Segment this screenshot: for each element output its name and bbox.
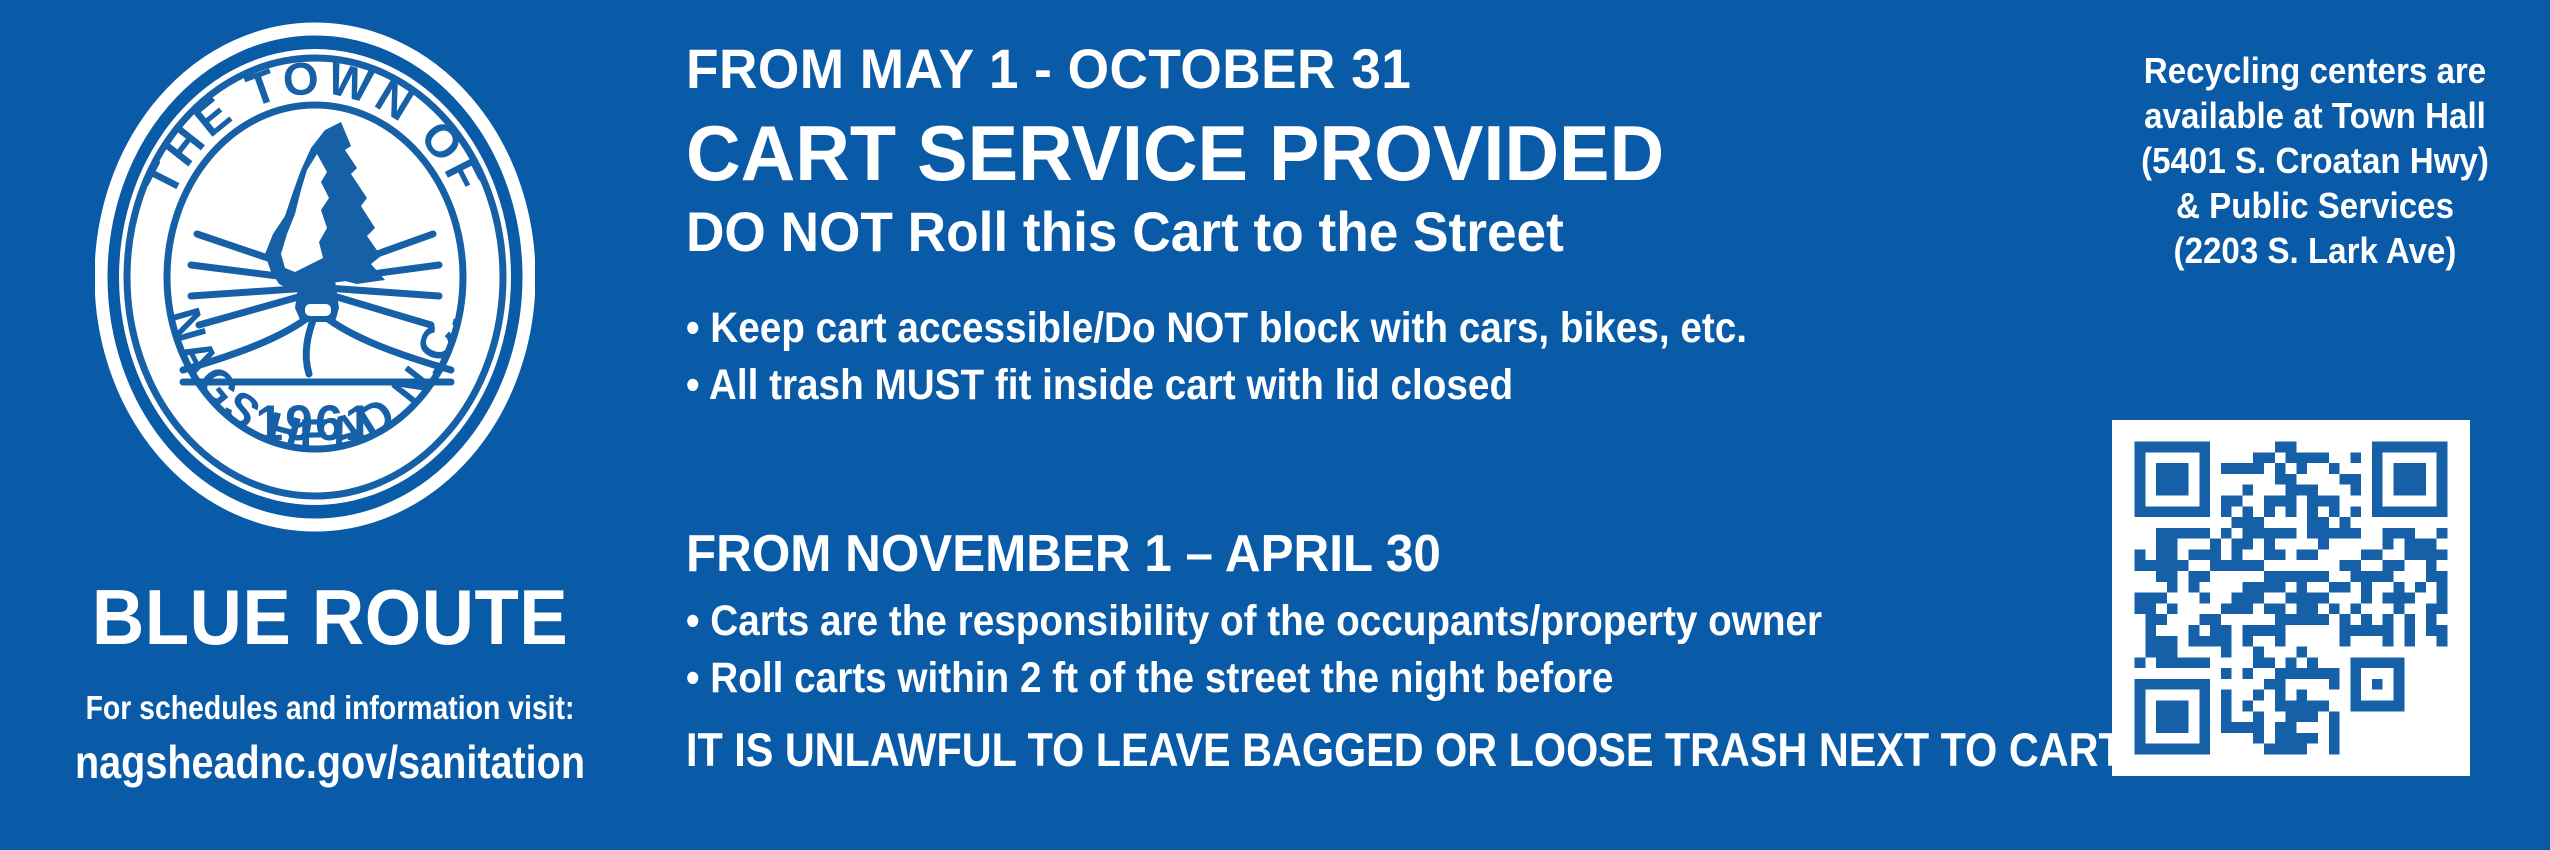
town-seal-graphic: THE TOWN OF NAGS HEAD N.C.: [95, 22, 535, 532]
winter-bullet-list: • Carts are the responsibility of the oc…: [686, 593, 1948, 707]
qr-code[interactable]: [2112, 420, 2470, 776]
visit-label: For schedules and information visit:: [46, 688, 614, 728]
recycling-line: available at Town Hall: [2099, 93, 2531, 138]
svg-text:1961: 1961: [255, 395, 374, 451]
recycling-line: & Public Services: [2099, 183, 2531, 228]
qr-code-icon: [2112, 420, 2470, 776]
recycling-info: Recycling centers are available at Town …: [2099, 48, 2531, 273]
recycling-line: (2203 S. Lark Ave): [2099, 228, 2531, 273]
recycling-line: (5401 S. Croatan Hwy): [2099, 138, 2531, 183]
website-url[interactable]: nagsheadnc.gov/sanitation: [46, 735, 614, 789]
sanitation-cart-label: THE TOWN OF NAGS HEAD N.C.: [0, 0, 2550, 850]
sub-headline: DO NOT Roll this Cart to the Street: [686, 200, 1564, 264]
right-column: Recycling centers are available at Town …: [2080, 0, 2550, 850]
town-seal: THE TOWN OF NAGS HEAD N.C.: [95, 22, 535, 532]
summer-season-heading: FROM MAY 1 - OCTOBER 31: [686, 38, 1411, 100]
list-item: • Carts are the responsibility of the oc…: [686, 593, 1822, 650]
unlawful-warning: IT IS UNLAWFUL TO LEAVE BAGGED OR LOOSE …: [686, 722, 2165, 778]
list-item: • Keep cart accessible/Do NOT block with…: [686, 300, 1747, 357]
main-headline: CART SERVICE PROVIDED: [686, 110, 1664, 196]
list-item: • Roll carts within 2 ft of the street t…: [686, 650, 1822, 707]
summer-bullet-list: • Keep cart accessible/Do NOT block with…: [686, 300, 1865, 414]
winter-season-heading: FROM NOVEMBER 1 – APRIL 30: [686, 524, 1441, 584]
recycling-line: Recycling centers are: [2099, 48, 2531, 93]
route-name: BLUE ROUTE: [23, 575, 637, 659]
center-column: FROM MAY 1 - OCTOBER 31 CART SERVICE PRO…: [686, 0, 2076, 850]
list-item: • All trash MUST fit inside cart with li…: [686, 357, 1747, 414]
left-column: THE TOWN OF NAGS HEAD N.C.: [0, 0, 660, 850]
